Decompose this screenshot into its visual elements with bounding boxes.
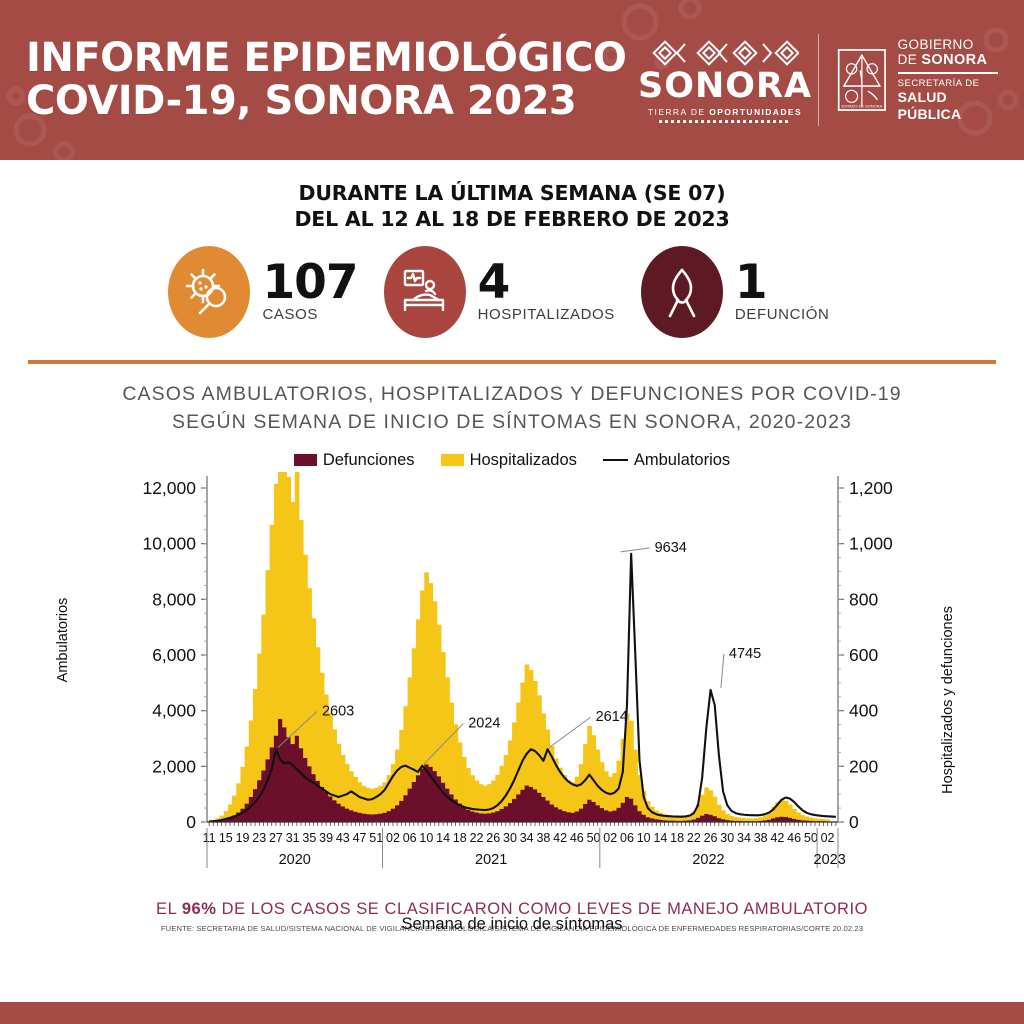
page-title: INFORME EPIDEMIOLÓGICO COVID-19, SONORA … bbox=[26, 37, 646, 123]
legend-item-defunciones: Defunciones bbox=[294, 451, 415, 470]
stat-casos: 107 CASOS bbox=[168, 246, 383, 338]
stat-hospitalizados-text: 4 HOSPITALIZADOS bbox=[478, 261, 615, 323]
stat-defuncion-text: 1 DEFUNCIÓN bbox=[735, 261, 830, 323]
svg-text:600: 600 bbox=[849, 645, 878, 665]
header-banner: INFORME EPIDEMIOLÓGICO COVID-19, SONORA … bbox=[0, 0, 1024, 160]
svg-text:2024: 2024 bbox=[468, 715, 500, 731]
legend-swatch-ambulatorios bbox=[603, 459, 628, 461]
svg-text:02: 02 bbox=[821, 831, 835, 845]
svg-text:26: 26 bbox=[704, 831, 718, 845]
svg-text:2020: 2020 bbox=[279, 852, 311, 868]
stat-defuncion-circle bbox=[641, 246, 723, 338]
summary-stats: 107 CASOS 4 HOSPITA bbox=[0, 246, 1024, 338]
section-divider bbox=[28, 360, 996, 364]
legend-label-ambulatorios: Ambulatorios bbox=[634, 451, 730, 470]
sonora-tagline: TIERRA DE OPORTUNIDADES bbox=[648, 107, 802, 117]
chart-title-line2: SEGÚN SEMANA DE INICIO DE SÍNTOMAS EN SO… bbox=[0, 409, 1024, 437]
chart-legend: Defunciones Hospitalizados Ambulatorios bbox=[0, 451, 1024, 470]
svg-text:2614: 2614 bbox=[596, 709, 628, 725]
svg-text:11: 11 bbox=[203, 831, 216, 845]
sonora-tagline-2: OPORTUNIDADES bbox=[709, 107, 802, 117]
gobierno-sonora: SONORA bbox=[921, 52, 987, 68]
svg-text:ESTADO DE SONORA: ESTADO DE SONORA bbox=[841, 103, 882, 108]
infographic-page: INFORME EPIDEMIOLÓGICO COVID-19, SONORA … bbox=[0, 0, 1024, 1024]
svg-text:10: 10 bbox=[637, 831, 651, 845]
svg-text:23: 23 bbox=[252, 831, 266, 845]
svg-text:06: 06 bbox=[403, 831, 417, 845]
svg-text:4745: 4745 bbox=[729, 646, 761, 662]
chart-title: CASOS AMBULATORIOS, HOSPITALIZADOS Y DEF… bbox=[0, 381, 1024, 436]
virus-magnifier-icon bbox=[183, 266, 235, 318]
svg-text:34: 34 bbox=[520, 831, 534, 845]
stat-defuncion-label: DEFUNCIÓN bbox=[735, 306, 830, 323]
svg-text:18: 18 bbox=[670, 831, 684, 845]
stat-hospitalizados-label: HOSPITALIZADOS bbox=[478, 306, 615, 323]
gobierno-separator bbox=[898, 72, 998, 74]
svg-text:8,000: 8,000 bbox=[152, 589, 196, 609]
y-axis-left-title: Ambulatorios bbox=[55, 598, 71, 683]
svg-text:6,000: 6,000 bbox=[152, 645, 196, 665]
stat-hospitalizados: 4 HOSPITALIZADOS bbox=[384, 246, 641, 338]
gobierno-line2: DE SONORA bbox=[898, 52, 998, 68]
svg-text:15: 15 bbox=[219, 831, 233, 845]
header-logos: SONORA TIERRA DE OPORTUNIDADES ESTADO DE… bbox=[650, 34, 998, 126]
y-axis-right-title: Hospitalizados y defunciones bbox=[940, 606, 956, 794]
legend-label-hospitalizados: Hospitalizados bbox=[470, 451, 577, 470]
svg-text:0: 0 bbox=[186, 812, 196, 832]
covid-combo-chart: 02,0004,0006,0008,00010,00012,0000200400… bbox=[0, 472, 1024, 892]
svg-text:47: 47 bbox=[353, 831, 367, 845]
hospital-bed-icon bbox=[399, 268, 451, 316]
gobierno-de: DE bbox=[898, 52, 922, 67]
logo-divider bbox=[818, 34, 819, 126]
svg-text:43: 43 bbox=[336, 831, 350, 845]
svg-text:02: 02 bbox=[386, 831, 400, 845]
week-summary-line1: DURANTE LA ÚLTIMA SEMANA (SE 07) bbox=[0, 181, 1024, 207]
svg-text:10,000: 10,000 bbox=[142, 533, 196, 553]
svg-text:19: 19 bbox=[236, 831, 250, 845]
sonora-diamond-ornament-icon bbox=[651, 38, 799, 68]
svg-text:22: 22 bbox=[687, 831, 701, 845]
svg-text:31: 31 bbox=[286, 831, 300, 845]
secretaria-block: SECRETARÍA DE SALUD PÚBLICA bbox=[898, 78, 998, 123]
svg-text:2022: 2022 bbox=[692, 852, 724, 868]
svg-text:42: 42 bbox=[553, 831, 567, 845]
sonora-wordmark: SONORA bbox=[638, 69, 812, 104]
legend-item-ambulatorios: Ambulatorios bbox=[603, 451, 730, 470]
footer-bar bbox=[0, 1002, 1024, 1024]
svg-text:51: 51 bbox=[369, 831, 383, 845]
svg-text:50: 50 bbox=[587, 831, 601, 845]
svg-text:2603: 2603 bbox=[322, 703, 354, 719]
page-title-line1: INFORME EPIDEMIOLÓGICO bbox=[26, 37, 646, 80]
svg-text:0: 0 bbox=[849, 812, 859, 832]
svg-text:38: 38 bbox=[754, 831, 768, 845]
secretaria-line1: SECRETARÍA DE bbox=[898, 78, 980, 89]
legend-swatch-hospitalizados bbox=[441, 454, 464, 466]
svg-text:18: 18 bbox=[453, 831, 467, 845]
week-summary-heading: DURANTE LA ÚLTIMA SEMANA (SE 07) DEL AL … bbox=[0, 181, 1024, 232]
svg-text:2023: 2023 bbox=[814, 852, 846, 868]
svg-text:30: 30 bbox=[720, 831, 734, 845]
svg-text:2021: 2021 bbox=[475, 852, 507, 868]
svg-text:1,200: 1,200 bbox=[849, 478, 893, 498]
svg-text:14: 14 bbox=[436, 831, 450, 845]
svg-text:800: 800 bbox=[849, 589, 878, 609]
svg-text:400: 400 bbox=[849, 700, 878, 720]
week-summary-line2: DEL AL 12 AL 18 DE FEBRERO DE 2023 bbox=[0, 207, 1024, 233]
svg-text:1,000: 1,000 bbox=[849, 533, 893, 553]
svg-text:4,000: 4,000 bbox=[152, 700, 196, 720]
stat-casos-text: 107 CASOS bbox=[262, 261, 357, 323]
svg-text:9634: 9634 bbox=[655, 539, 687, 555]
svg-text:10: 10 bbox=[419, 831, 433, 845]
secretaria-line2: SALUD PÚBLICA bbox=[898, 89, 998, 123]
stat-defuncion-value: 1 bbox=[735, 261, 830, 304]
svg-text:22: 22 bbox=[470, 831, 484, 845]
svg-text:50: 50 bbox=[804, 831, 818, 845]
svg-text:46: 46 bbox=[787, 831, 801, 845]
stat-hospitalizados-value: 4 bbox=[478, 261, 615, 304]
svg-text:14: 14 bbox=[653, 831, 667, 845]
sonora-logo: SONORA TIERRA DE OPORTUNIDADES bbox=[650, 38, 800, 123]
x-axis-title: Semana de inicio de síntomas bbox=[0, 915, 1024, 934]
stat-casos-value: 107 bbox=[262, 261, 357, 304]
sonora-dashed-rule bbox=[659, 120, 791, 123]
svg-text:30: 30 bbox=[503, 831, 517, 845]
stat-hospitalizados-circle bbox=[384, 246, 466, 338]
stat-defuncion: 1 DEFUNCIÓN bbox=[641, 246, 856, 338]
svg-text:27: 27 bbox=[269, 831, 283, 845]
svg-text:39: 39 bbox=[319, 831, 333, 845]
gobierno-text-block: GOBIERNO DE SONORA SECRETARÍA DE SALUD P… bbox=[898, 37, 998, 123]
svg-text:35: 35 bbox=[302, 831, 316, 845]
gobierno-line1: GOBIERNO bbox=[898, 37, 998, 52]
svg-text:42: 42 bbox=[770, 831, 784, 845]
svg-text:38: 38 bbox=[536, 831, 550, 845]
svg-text:2,000: 2,000 bbox=[152, 756, 196, 776]
awareness-ribbon-icon bbox=[660, 264, 704, 320]
legend-item-hospitalizados: Hospitalizados bbox=[441, 451, 577, 470]
svg-text:06: 06 bbox=[620, 831, 634, 845]
gobierno-sonora-logo: ESTADO DE SONORA GOBIERNO DE SONORA SECR… bbox=[837, 37, 998, 123]
page-title-line2: COVID-19, SONORA 2023 bbox=[26, 80, 646, 123]
svg-text:34: 34 bbox=[737, 831, 751, 845]
svg-text:02: 02 bbox=[603, 831, 617, 845]
svg-text:26: 26 bbox=[486, 831, 500, 845]
stat-casos-circle bbox=[168, 246, 250, 338]
svg-text:200: 200 bbox=[849, 756, 878, 776]
svg-text:46: 46 bbox=[570, 831, 584, 845]
chart-title-line1: CASOS AMBULATORIOS, HOSPITALIZADOS Y DEF… bbox=[0, 381, 1024, 409]
chart-area: 02,0004,0006,0008,00010,00012,0000200400… bbox=[0, 472, 1024, 892]
sonora-tagline-1: TIERRA DE bbox=[648, 107, 709, 117]
svg-text:12,000: 12,000 bbox=[142, 478, 196, 498]
sonora-coat-of-arms-icon: ESTADO DE SONORA bbox=[837, 43, 887, 117]
legend-label-defunciones: Defunciones bbox=[323, 451, 415, 470]
legend-swatch-defunciones bbox=[294, 454, 317, 466]
